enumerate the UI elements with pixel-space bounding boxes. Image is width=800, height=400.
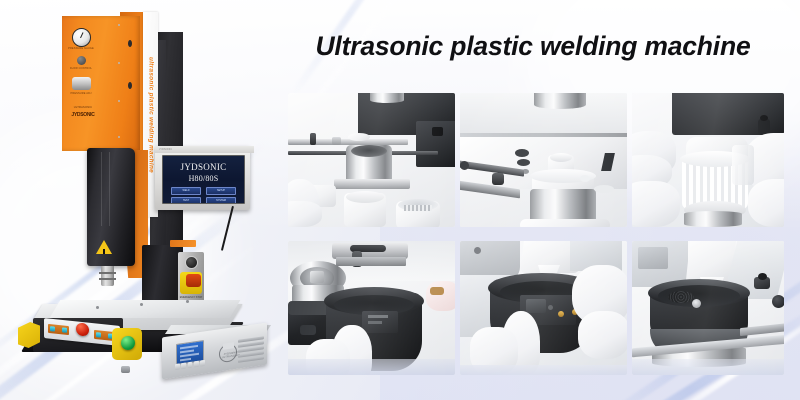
hmi-button-system[interactable]: SYSTEM [206,197,236,204]
machine-foot [121,366,130,373]
scene-filter-housing-on-tooling [460,93,627,227]
head-port-1 [128,40,132,47]
flow-control-label: FLOW CONTROL [66,67,96,70]
scene-hand-black-cylinder [288,241,455,375]
head-screw-1 [118,24,120,26]
scene-fixture-white-caps [288,93,455,227]
emergency-stop-button[interactable] [186,274,201,287]
table-bolt-2 [140,303,143,306]
machine-work-table-surface [50,300,241,318]
hmi-screen[interactable]: JYDSONIC H80/80S WELD SETUP TEST SYSTEM [162,155,245,204]
head-screw-4 [118,136,120,138]
power-selector-knob[interactable] [185,256,198,269]
pressure-adjust-knob[interactable] [72,77,91,90]
machine-horn-ring-2 [99,278,116,280]
machine-orange-plate [170,240,196,247]
photo-cell-1[interactable] [288,93,455,227]
hmi-bezel-label: JYDSONIC [155,146,254,153]
scene-hands-black-housing [460,241,627,375]
generator-vents [238,336,264,366]
hmi-button-test[interactable]: TEST [171,197,201,204]
banner-canvas: Ultrasonic plastic welding machine PRESS… [0,0,800,400]
photo-cell-5[interactable] [460,241,627,375]
head-port-2 [128,82,132,89]
hmi-model: H80/80S [163,174,244,183]
high-voltage-warning-bolt [103,249,105,254]
scene-hands-white-filter [632,93,784,227]
hmi-cable [221,206,234,251]
machine-welding-horn [101,266,114,286]
start-button[interactable] [121,336,135,350]
scene-horn-welding-black-part [632,241,784,375]
head-screw-3 [118,100,120,102]
head-screw-2 [118,62,120,64]
emergency-stop-label: EMERGENCY STOP [178,296,204,299]
hmi-title: JYDSONIC [163,162,244,172]
page-title: Ultrasonic plastic welding machine [283,25,783,67]
product-photo-grid [288,93,784,375]
head-brand-sub: ULTRASONIC [66,106,100,109]
photo-cell-6[interactable] [632,241,784,375]
stop-button[interactable] [76,322,89,336]
machine-horn-ring-1 [99,272,116,274]
hmi-button-grid: WELD SETUP TEST SYSTEM [171,187,236,204]
pressure-adjust-label: PRESSURE ADJ [66,92,96,95]
photo-cell-3[interactable] [632,93,784,227]
hmi-button-setup[interactable]: SETUP [206,187,236,195]
photo-cell-2[interactable] [460,93,627,227]
table-bolt-1 [96,306,99,309]
machine-photo: PRESSURE GAUGE FLOW CONTROL PRESSURE ADJ… [0,0,290,400]
machine-side-strip-text: ultrasonic plastic welding machine [147,56,154,172]
hmi-touch-panel[interactable]: JYDSONIC JYDSONIC H80/80S WELD SETUP TES… [155,146,250,210]
pressure-gauge-label: PRESSURE GAUGE [66,47,96,50]
flow-control-knob[interactable] [77,56,86,65]
head-brand-text: JYDSONIC [68,112,98,118]
photo-cell-4[interactable] [288,241,455,375]
hmi-button-weld[interactable]: WELD [171,187,201,195]
pressure-gauge-icon [72,28,91,47]
table-bolt-3 [186,300,189,303]
